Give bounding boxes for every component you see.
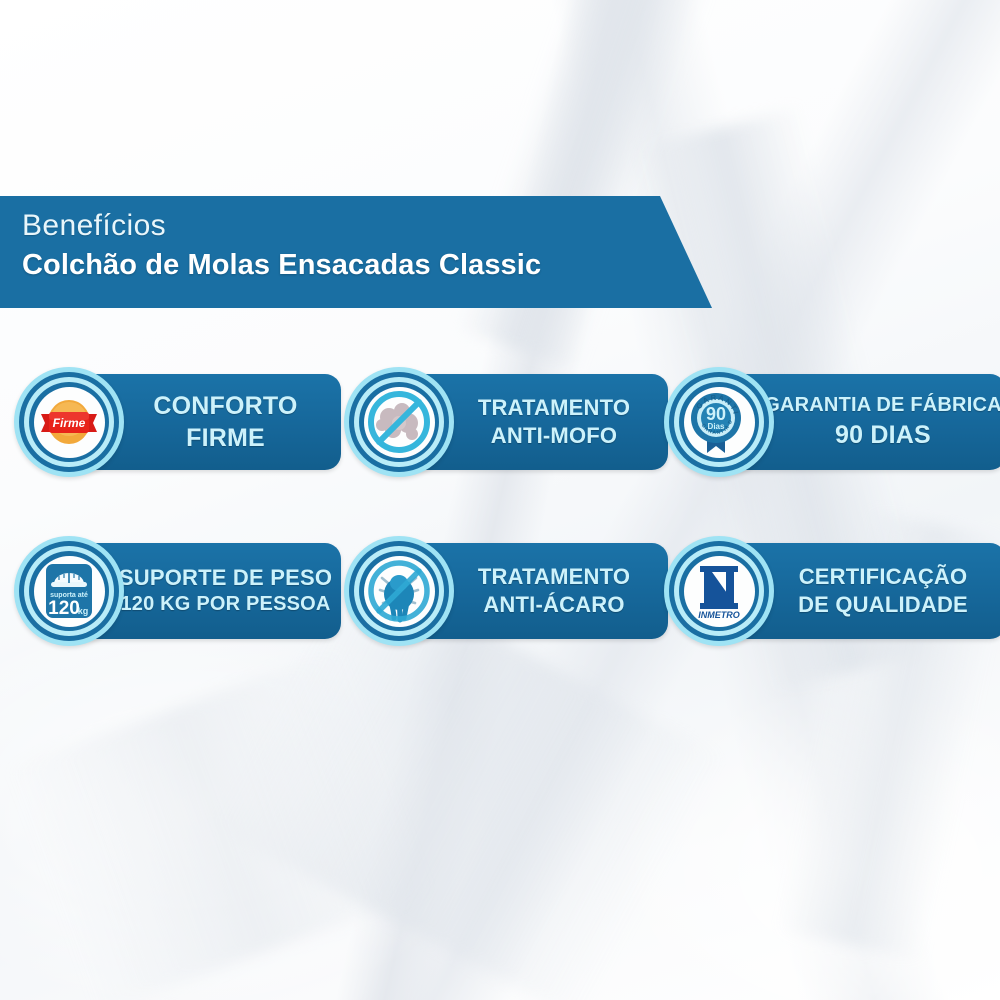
badge-line-2: 90 DIAS: [835, 419, 931, 451]
badge-line-1: GARANTIA DE FÁBRICA: [764, 393, 1000, 419]
header-banner: Benefícios Colchão de Molas Ensacadas Cl…: [0, 196, 712, 308]
warranty-seal-icon: GARANTIA GARANTIA DE FÁBRICA 90 Dias: [685, 387, 753, 457]
badge-line-1: CERTIFICAÇÃO: [799, 563, 968, 591]
benefits-row: SUPORTE DE PESO 120 KG POR PESSOA: [0, 524, 1000, 684]
benefits-row: CONFORTO FIRME Firme: [0, 355, 1000, 515]
page-title: Colchão de Molas Ensacadas Classic: [22, 246, 712, 284]
anti-mite-icon: [364, 556, 434, 626]
badge-icon-frame: INMETRO: [664, 536, 774, 646]
badge-line-1: SUPORTE DE PESO: [119, 564, 332, 592]
weight-scale-icon: suporta até 120 kg: [38, 558, 100, 624]
firme-seal-label: Firme: [53, 416, 86, 430]
badge-line-2: DE QUALIDADE: [798, 591, 968, 619]
inmetro-icon: INMETRO: [686, 558, 752, 624]
badge-icon-frame: GARANTIA GARANTIA DE FÁBRICA 90 Dias: [664, 367, 774, 477]
anti-mold-icon: [364, 387, 434, 457]
warranty-number: 90: [706, 404, 726, 424]
warranty-unit: Dias: [708, 422, 725, 431]
badge-icon-frame: suporta até 120 kg: [14, 536, 124, 646]
badge-line-1: TRATAMENTO: [478, 563, 630, 591]
badge-line-1: CONFORTO: [153, 390, 297, 422]
badge-icon-frame: [344, 536, 454, 646]
badge-line-1: TRATAMENTO: [478, 394, 630, 422]
scale-unit: kg: [78, 606, 89, 616]
badge-line-2: FIRME: [186, 422, 265, 454]
badge-line-2: ANTI-ÁCARO: [483, 591, 624, 619]
scale-number: 120: [48, 598, 80, 619]
badge-icon-frame: Firme: [14, 367, 124, 477]
badge-line-2: ANTI-MOFO: [491, 422, 617, 450]
inmetro-label: INMETRO: [698, 610, 740, 620]
badge-line-2: 120 KG POR PESSOA: [120, 592, 330, 618]
badge-icon-frame: [344, 367, 454, 477]
benefits-grid: CONFORTO FIRME Firme: [0, 355, 1000, 684]
firme-seal-icon: Firme: [35, 388, 103, 456]
banner-eyebrow: Benefícios: [22, 208, 712, 244]
